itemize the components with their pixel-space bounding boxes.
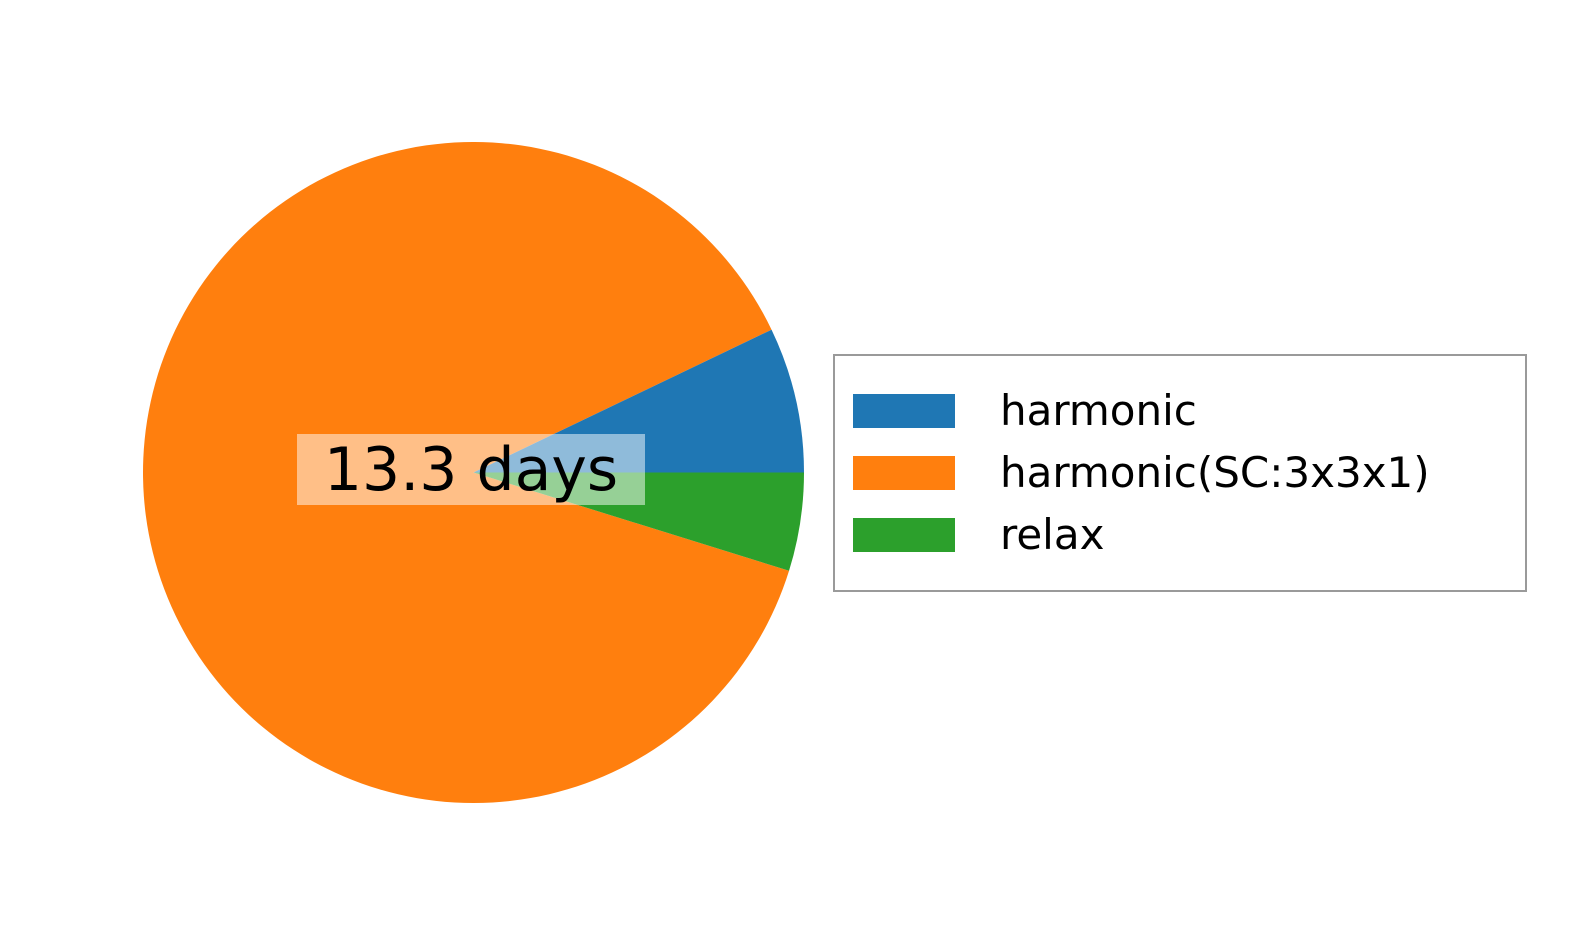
pie-center-label-text: 13.3 days <box>324 440 618 500</box>
legend-label-relax: relax <box>1000 514 1104 556</box>
legend-swatch-harmonic-sc3x3x1 <box>853 456 955 490</box>
legend-label-harmonic-sc3x3x1: harmonic(SC:3x3x1) <box>1000 452 1430 494</box>
legend-swatch-relax <box>853 518 955 552</box>
legend-label-harmonic: harmonic <box>1000 390 1197 432</box>
pie-chart-figure: 13.3 days harmonic harmonic(SC:3x3x1) re… <box>0 0 1584 951</box>
legend: harmonic harmonic(SC:3x3x1) relax <box>833 354 1527 592</box>
legend-item-relax[interactable]: relax <box>853 504 1525 566</box>
legend-item-harmonic[interactable]: harmonic <box>853 380 1525 442</box>
legend-swatch-harmonic <box>853 394 955 428</box>
pie-center-label: 13.3 days <box>297 434 645 505</box>
legend-item-harmonic-sc3x3x1[interactable]: harmonic(SC:3x3x1) <box>853 442 1525 504</box>
